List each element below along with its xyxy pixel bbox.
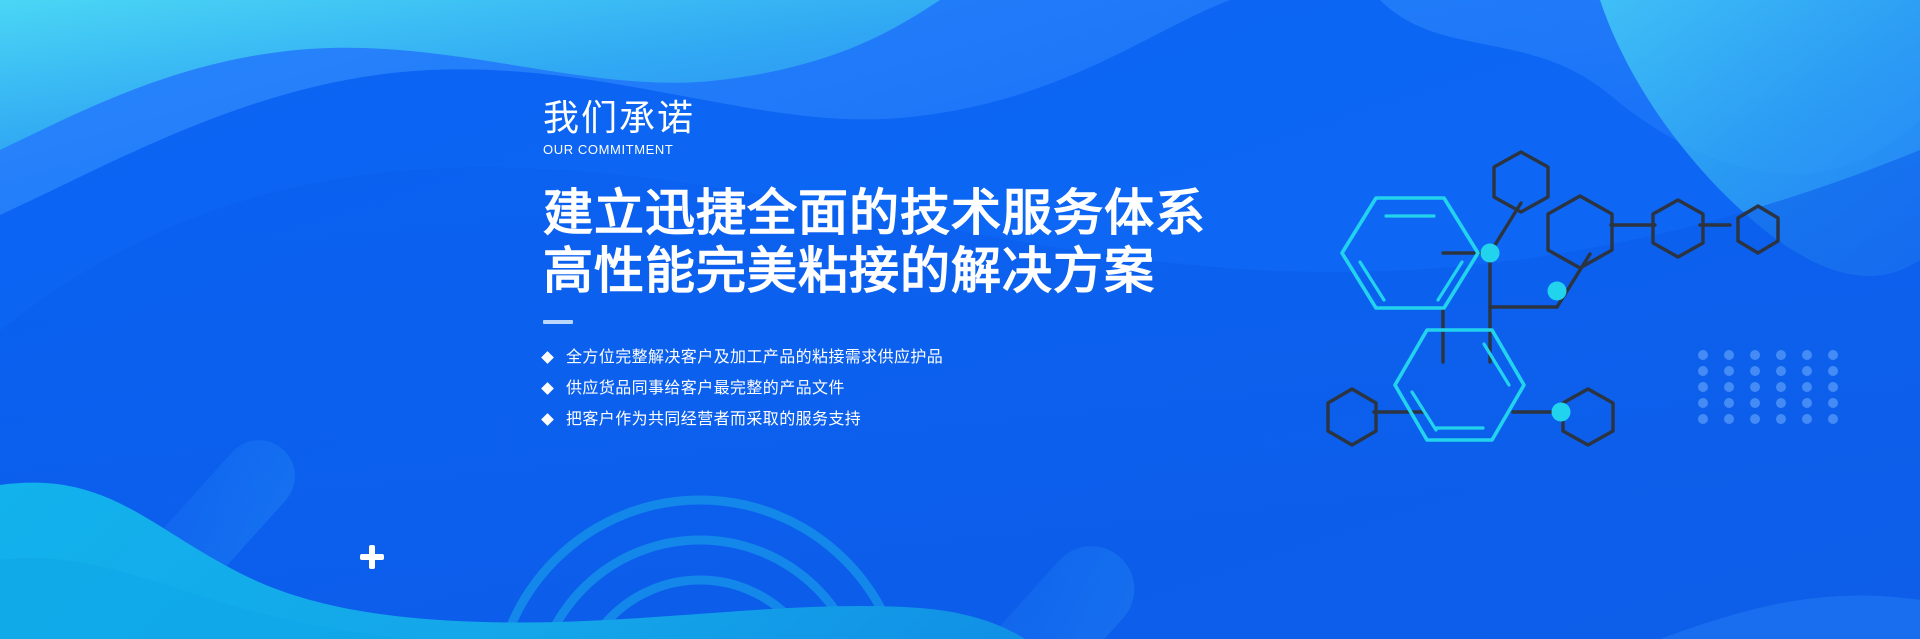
diamond-bullet-icon <box>541 413 554 426</box>
plus-icon <box>360 545 384 569</box>
list-item: 全方位完整解决客户及加工产品的粘接需求供应护品 <box>543 348 1363 367</box>
headline-line-1: 建立迅捷全面的技术服务体系 <box>543 184 1363 242</box>
molecule-ring-cyan-lower <box>1395 330 1524 440</box>
eyebrow-title-cn: 我们承诺 <box>543 96 1363 140</box>
plus-icon-vertical-bar <box>369 545 375 569</box>
diamond-bullet-icon <box>541 382 554 395</box>
promo-banner: 我们承诺 OUR COMMITMENT 建立迅捷全面的技术服务体系 高性能完美粘… <box>0 0 1920 639</box>
list-item-label: 供应货品同事给客户最完整的产品文件 <box>566 379 845 398</box>
commitment-list: 全方位完整解决客户及加工产品的粘接需求供应护品 供应货品同事给客户最完整的产品文… <box>543 348 1363 429</box>
page-title: 建立迅捷全面的技术服务体系 高性能完美粘接的解决方案 <box>543 184 1363 300</box>
list-item: 把客户作为共同经营者而采取的服务支持 <box>543 410 1363 429</box>
headline-line-2: 高性能完美粘接的解决方案 <box>543 242 1363 300</box>
list-item-label: 全方位完整解决客户及加工产品的粘接需求供应护品 <box>566 348 943 367</box>
eyebrow-title-en: OUR COMMITMENT <box>543 142 1363 158</box>
headline-divider <box>543 320 573 324</box>
diamond-bullet-icon <box>541 351 554 364</box>
list-item-label: 把客户作为共同经营者而采取的服务支持 <box>566 410 861 429</box>
banner-content: 我们承诺 OUR COMMITMENT 建立迅捷全面的技术服务体系 高性能完美粘… <box>543 96 1363 441</box>
list-item: 供应货品同事给客户最完整的产品文件 <box>543 379 1363 398</box>
